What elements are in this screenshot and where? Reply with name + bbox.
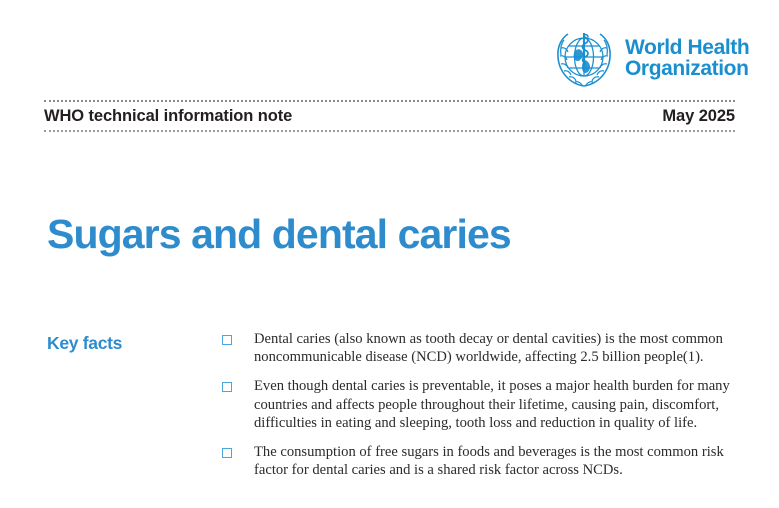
who-wordmark: World Health Organization — [625, 37, 749, 80]
list-item-text: Dental caries (also known as tooth decay… — [254, 330, 739, 366]
document-date: May 2025 — [662, 107, 735, 126]
list-item: Even though dental caries is preventable… — [222, 377, 739, 432]
header-row: WHO technical information note May 2025 — [44, 102, 735, 130]
who-wordmark-line-1: World Health — [625, 37, 749, 58]
who-emblem-icon — [552, 26, 616, 90]
list-item-text: The consumption of free sugars in foods … — [254, 443, 739, 479]
list-item-text: Even though dental caries is preventable… — [254, 377, 739, 432]
key-facts-section: Key facts Dental caries (also known as t… — [47, 330, 739, 480]
empty-square-bullet-icon — [222, 448, 232, 458]
list-item: The consumption of free sugars in foods … — [222, 443, 739, 479]
header-rule-bottom — [44, 130, 735, 132]
header-band: WHO technical information note May 2025 — [44, 100, 735, 132]
key-facts-list: Dental caries (also known as tooth decay… — [222, 330, 739, 480]
document-type-label: WHO technical information note — [44, 107, 292, 126]
empty-square-bullet-icon — [222, 335, 232, 345]
page-title: Sugars and dental caries — [47, 213, 511, 256]
empty-square-bullet-icon — [222, 382, 232, 392]
document-page: World Health Organization WHO technical … — [0, 0, 779, 508]
key-facts-label: Key facts — [47, 330, 222, 354]
who-wordmark-line-2: Organization — [625, 58, 749, 79]
list-item: Dental caries (also known as tooth decay… — [222, 330, 739, 366]
who-logo: World Health Organization — [552, 26, 749, 90]
